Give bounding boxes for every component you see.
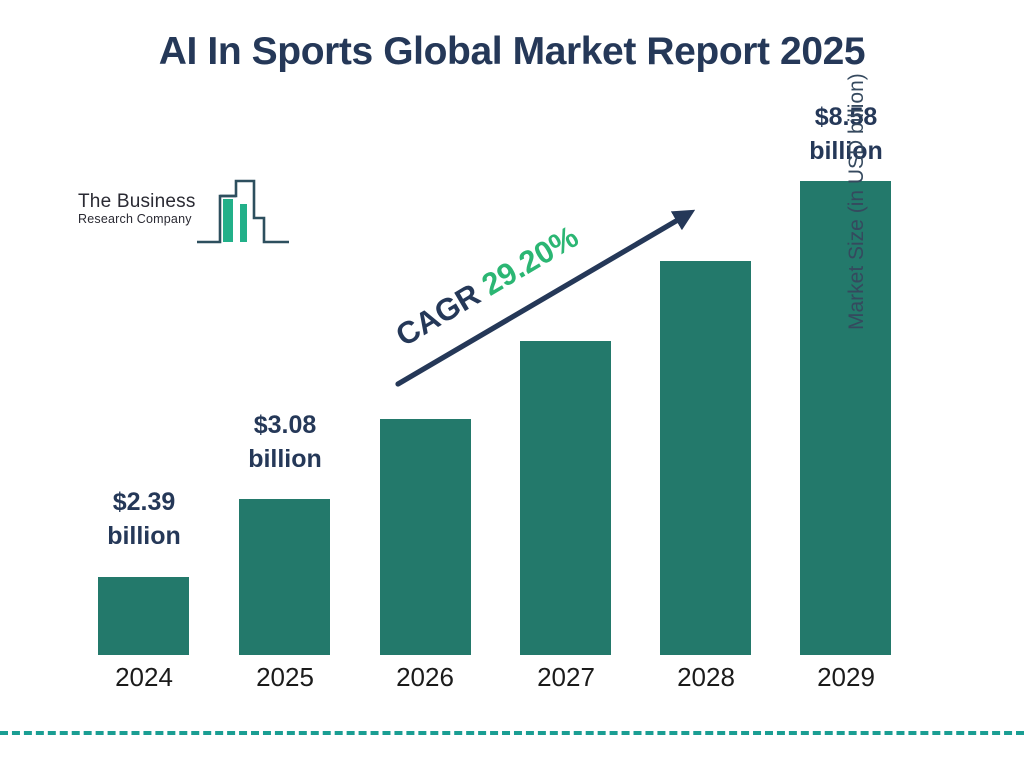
bar-2024 [98,577,189,655]
x-tick-2026: 2026 [365,662,485,693]
value-label-2024: $2.39 billion [84,485,204,553]
bar-2025 [239,499,330,655]
bar-2028 [660,261,751,655]
cagr-annotation: CAGR 29.20% [390,219,585,354]
footer-divider [0,731,1024,735]
cagr-label: CAGR [390,277,486,353]
x-tick-2027: 2027 [506,662,626,693]
x-tick-2029: 2029 [786,662,906,693]
value-label-2025: $3.08 billion [225,408,345,476]
bar-2027 [520,341,611,655]
x-tick-2025: 2025 [225,662,345,693]
x-tick-2024: 2024 [84,662,204,693]
cagr-value: 29.20% [476,219,584,303]
chart-page: AI In Sports Global Market Report 2025 T… [0,0,1024,768]
bar-2026 [380,419,471,655]
bar-chart-plot: $2.39 billion $3.08 billion $8.58 billio… [0,0,1024,768]
x-tick-2028: 2028 [646,662,766,693]
y-axis-title: Market Size (in USD billion) [845,0,869,330]
